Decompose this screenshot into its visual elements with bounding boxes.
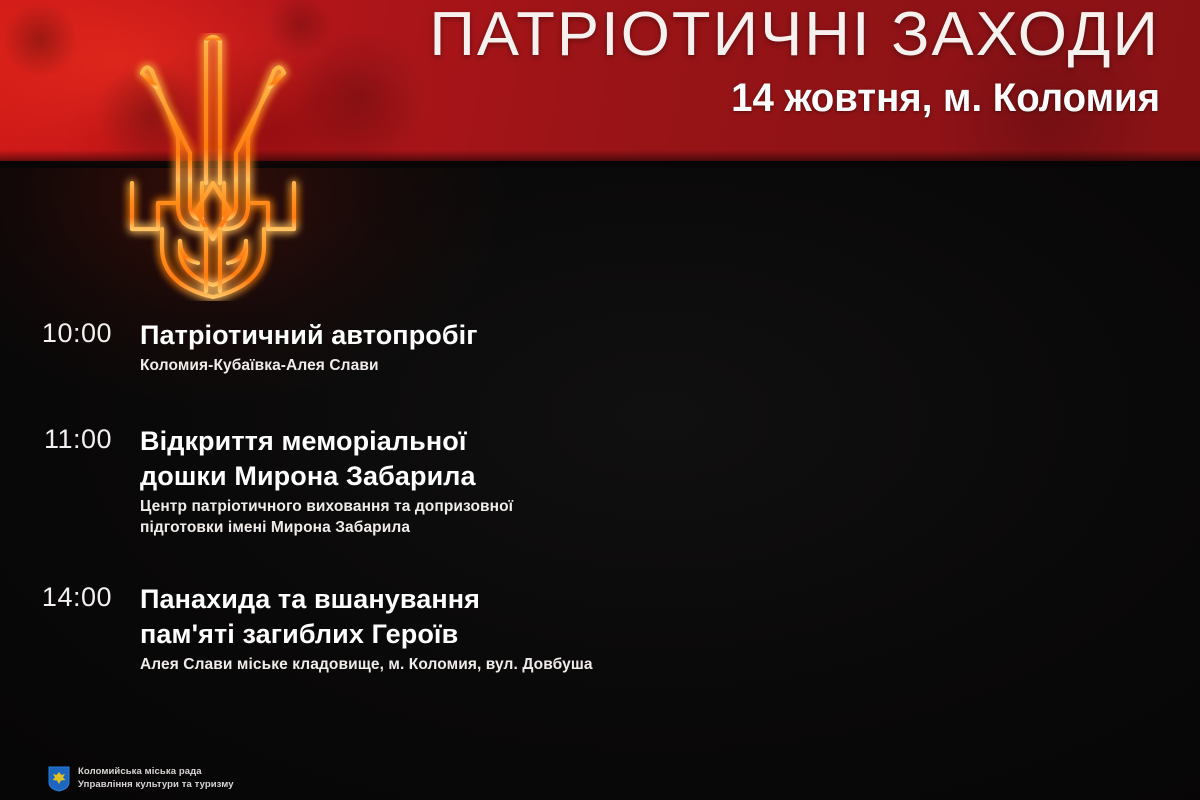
event-time: 10:00: [28, 318, 112, 350]
schedule-item: 11:00 Відкриття меморіальної дошки Мирон…: [28, 424, 588, 538]
schedule-item: 14:00 Панахида та вшанування пам'яті заг…: [28, 582, 598, 676]
page-title: ПАТРІОТИЧНІ ЗАХОДИ: [344, 0, 1160, 66]
footer-text: Коломийська міська рада Управління культ…: [78, 766, 234, 791]
poster-header: ПАТРІОТИЧНІ ЗАХОДИ 14 жовтня, м. Коломия: [360, 0, 1160, 118]
header-date-location: 14 жовтня, м. Коломия: [392, 78, 1160, 118]
patriotic-events-poster: ПАТРІОТИЧНІ ЗАХОДИ 14 жовтня, м. Коломия…: [0, 0, 1200, 800]
kolomyia-coat-of-arms-icon: [48, 766, 70, 792]
footer-credits: Коломийська міська рада Управління культ…: [48, 766, 234, 792]
event-body: Панахида та вшанування пам'яті загиблих …: [112, 582, 598, 676]
event-title: Патріотичний автопробіг: [140, 318, 588, 353]
event-title: Панахида та вшанування пам'яті загиблих …: [140, 582, 598, 652]
event-time: 14:00: [28, 582, 112, 614]
event-venue: Коломия-Кубаївка-Алея Слави: [140, 356, 588, 377]
event-venue: Центр патріотичного виховання та допризо…: [140, 497, 588, 538]
schedule-item: 10:00 Патріотичний автопробіг Коломия-Ку…: [28, 318, 588, 377]
event-venue: Алея Слави міське кладовище, м. Коломия,…: [140, 655, 598, 676]
footer-line-1: Коломийська міська рада: [78, 766, 234, 779]
ukrainian-trident-icon: [118, 33, 308, 301]
footer-line-2: Управління культури та туризму: [78, 779, 234, 792]
event-body: Відкриття меморіальної дошки Мирона Заба…: [112, 424, 588, 538]
event-time: 11:00: [28, 424, 112, 456]
event-body: Патріотичний автопробіг Коломия-Кубаївка…: [112, 318, 588, 377]
event-title: Відкриття меморіальної дошки Мирона Заба…: [140, 424, 588, 494]
